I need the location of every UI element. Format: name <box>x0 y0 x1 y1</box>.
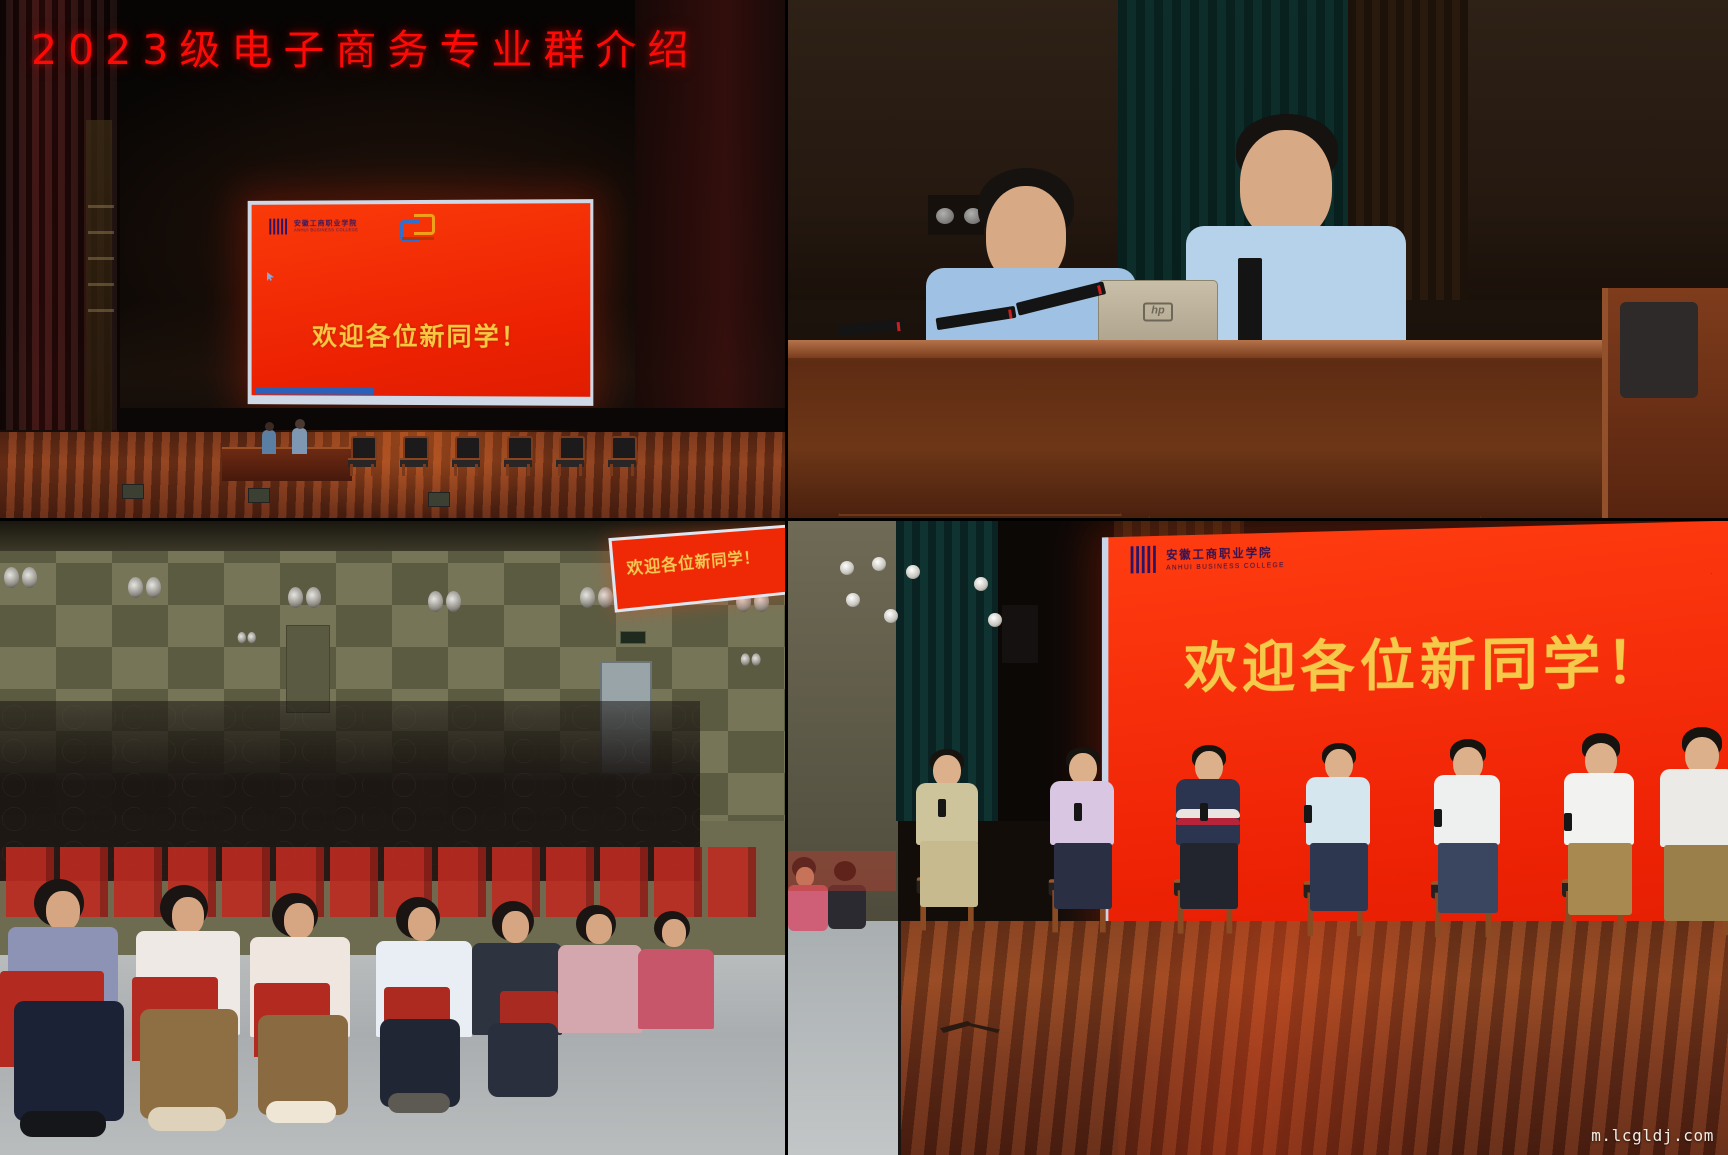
spotlight-icon <box>988 613 1002 627</box>
watermark: m.lcgldj.com <box>1591 1126 1714 1145</box>
legs <box>140 1009 238 1119</box>
stage-monitor-speaker <box>248 488 270 503</box>
college-name-en: ANHUI BUSINESS COLLEGE <box>1166 562 1285 572</box>
shoes <box>266 1101 336 1123</box>
photo-collage: 安徽工商职业学院 ANHUI BUSINESS COLLEGE 欢迎各位新同学！ <box>0 0 1728 1155</box>
wall-speaker-pair-icon <box>288 587 322 609</box>
side-audience-group <box>788 851 908 971</box>
red-floor-reflection <box>1118 921 1448 1155</box>
secondary-screen-text: 欢迎各位新同学！ <box>625 544 760 580</box>
podium-top-edge <box>788 340 1728 358</box>
panel-bottom-left-audience: 欢迎各位新同学！ <box>0 521 785 1155</box>
seated-person-right <box>292 428 307 454</box>
college-logo-large: 安徽工商职业学院 ANHUI BUSINESS COLLEGE <box>1131 542 1285 573</box>
spotlight-icon <box>840 561 854 575</box>
shoes <box>20 1111 106 1137</box>
stage-monitor-speaker <box>122 484 144 499</box>
hp-logo-icon: hp <box>1143 303 1173 322</box>
stage-chair <box>608 436 636 476</box>
secondary-logo-icon <box>400 214 436 238</box>
side-chair <box>1602 288 1728 518</box>
college-emblem-icon <box>1131 546 1159 574</box>
dark-curtain <box>998 521 1118 821</box>
panel-top-left-auditorium-wide: 安徽工商职业学院 ANHUI BUSINESS COLLEGE 欢迎各位新同学！ <box>0 0 785 518</box>
stage-monitor-speaker <box>428 492 450 507</box>
wall-speaker-pair-icon <box>741 653 761 666</box>
wall-speaker-pair-icon <box>238 632 257 644</box>
led-headline: 欢迎各位新同学！ <box>1108 615 1728 704</box>
projection-screen-frame: 安徽工商职业学院 ANHUI BUSINESS COLLEGE 欢迎各位新同学！ <box>248 199 594 406</box>
panel-divider-horizontal <box>0 518 1728 521</box>
microphone-upright <box>1238 258 1262 348</box>
spotlight-icon <box>872 557 886 571</box>
college-logo-small: 安徽工商职业学院 ANHUI BUSINESS COLLEGE <box>269 218 358 234</box>
college-name-en: ANHUI BUSINESS COLLEGE <box>294 228 358 232</box>
wall-speaker-pair-icon <box>428 591 462 613</box>
legs <box>14 1001 124 1121</box>
student-audience-crowd <box>0 671 785 1051</box>
face <box>1240 130 1332 240</box>
seated-person-left <box>262 430 276 454</box>
exit-sign <box>620 631 646 644</box>
stage-chair <box>348 436 376 476</box>
slide-bottom-bar <box>256 387 375 394</box>
ceiling-lamp-icon <box>936 208 954 224</box>
shoes <box>388 1093 450 1113</box>
spotlight-icon <box>906 565 920 579</box>
shoes <box>148 1107 226 1131</box>
stage-chair <box>504 436 532 476</box>
wall-speaker-pair-icon <box>4 567 38 589</box>
wall-light-slots <box>88 205 114 325</box>
wall-speaker-pair-icon <box>128 577 162 599</box>
panel-bottom-right-forum: 安徽工商职业学院 ANHUI BUSINESS COLLEGE 欢迎各位新同学！ <box>788 521 1728 1155</box>
legs <box>488 1023 558 1097</box>
spotlight-icon <box>846 593 860 607</box>
hp-laptop: hp <box>1098 280 1218 342</box>
spotlight-icon <box>974 577 988 591</box>
panel-top-right-podium: hp <box>788 0 1728 518</box>
wall-speaker-pair-icon <box>580 587 614 609</box>
spotlight-icon <box>884 609 898 623</box>
college-name-cn: 安徽工商职业学院 <box>1166 543 1285 563</box>
college-emblem-icon <box>269 219 287 235</box>
overlay-title: 2023级电子商务专业群介绍 <box>31 28 699 73</box>
stage-chair <box>400 436 428 476</box>
head-table <box>222 447 352 481</box>
panel-divider-vertical <box>785 0 788 1155</box>
stage-chair <box>556 436 584 476</box>
stage-chair <box>452 436 480 476</box>
projected-slide: 安徽工商职业学院 ANHUI BUSINESS COLLEGE 欢迎各位新同学！ <box>252 203 591 397</box>
legs <box>258 1015 348 1115</box>
hanging-speaker <box>1002 605 1038 663</box>
slide-headline: 欢迎各位新同学！ <box>252 317 591 354</box>
